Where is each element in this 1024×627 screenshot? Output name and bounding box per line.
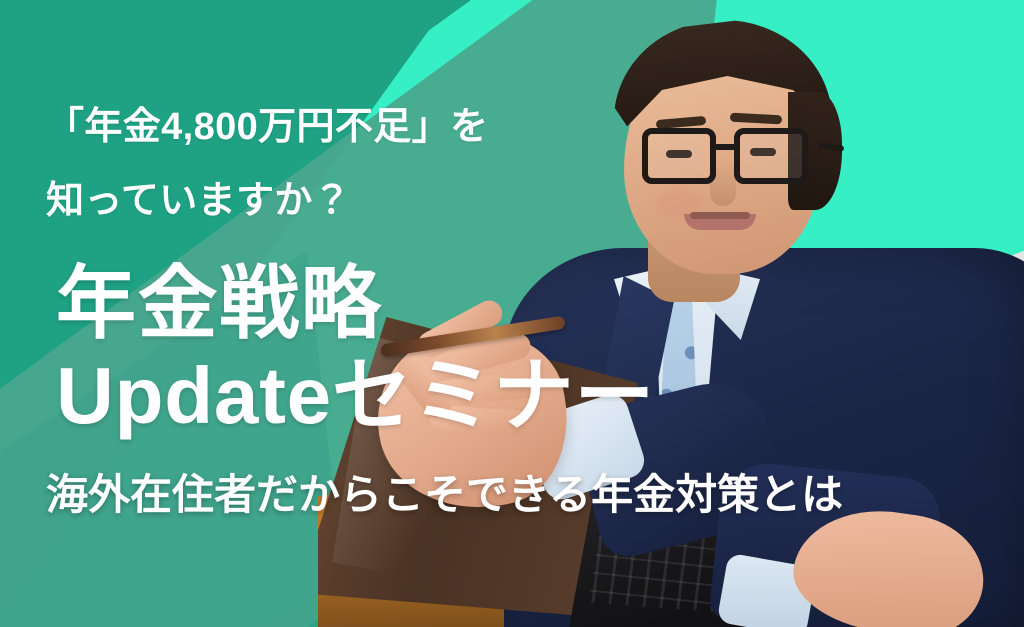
lead-line-2: 知っていますか？ (46, 182, 351, 220)
main-title-line-2: Updateセミナー (56, 356, 655, 436)
main-title-line-1: 年金戦略 (56, 264, 382, 344)
headline-copy: 「年金4,800万円不足」を 知っていますか？ 年金戦略 Updateセミナー … (0, 0, 1024, 627)
seminar-banner: 「年金4,800万円不足」を 知っていますか？ 年金戦略 Updateセミナー … (0, 0, 1024, 627)
lead-line-1: 「年金4,800万円不足」を (46, 108, 488, 146)
tagline: 海外在住者だからこそできる年金対策とは (46, 474, 843, 516)
